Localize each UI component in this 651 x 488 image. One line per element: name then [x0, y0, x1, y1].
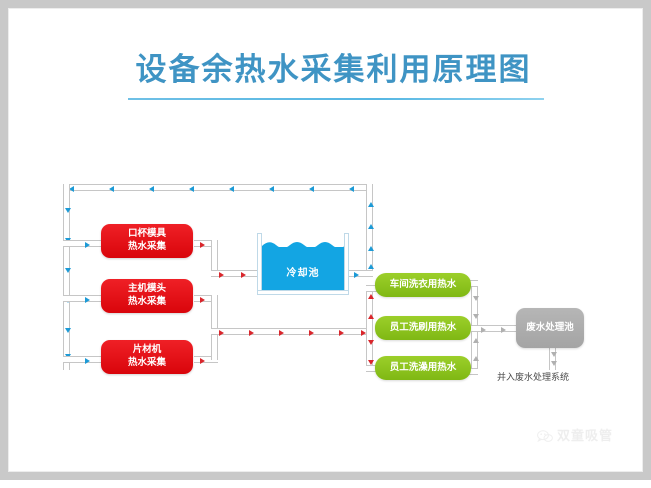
- node-source-2-line2: 热水采集: [128, 296, 166, 309]
- watermark: 双童吸管: [537, 425, 613, 444]
- pipe-return-branch-1: [63, 240, 105, 247]
- pool-wall-bottom: [257, 290, 349, 295]
- pipe-return-top: [63, 184, 373, 191]
- node-source-3-line1: 片材机: [133, 344, 162, 357]
- node-waste-tank[interactable]: 废水处理池: [516, 308, 584, 348]
- node-source-3[interactable]: 片材机 热水采集: [101, 340, 193, 374]
- node-use-2[interactable]: 员工洗刷用热水: [375, 316, 471, 340]
- pool-label: 冷却池: [257, 264, 349, 279]
- node-source-3-line2: 热水采集: [128, 357, 166, 370]
- node-use-3-label: 员工洗澡用热水: [390, 362, 457, 375]
- diagram-canvas: 口杯模具 热水采集 主机模头 热水采集 片材机 热水采集 冷却池: [8, 8, 651, 488]
- pool-water-surface: [262, 239, 344, 249]
- pipe-return-left-trunk: [63, 184, 70, 370]
- wechat-icon: [537, 428, 553, 441]
- pipe-hot-riser-upper: [211, 240, 218, 274]
- node-source-2-line1: 主机模头: [128, 283, 166, 296]
- pipe-hot-collector-lower: [211, 328, 373, 335]
- node-waste-tank-label: 废水处理池: [526, 322, 574, 335]
- waste-caption: 并入废水处理系统: [497, 370, 569, 383]
- diagram-page: 设备余热水采集利用原理图: [0, 0, 651, 480]
- pipe-waste-discharge: [549, 348, 556, 370]
- node-source-2[interactable]: 主机模头 热水采集: [101, 279, 193, 313]
- node-source-1[interactable]: 口杯模具 热水采集: [101, 224, 193, 258]
- node-use-2-label: 员工洗刷用热水: [390, 322, 457, 335]
- pipe-return-branch-2: [63, 295, 105, 302]
- node-source-1-line2: 热水采集: [128, 241, 166, 254]
- pipe-return-branch-3: [63, 356, 105, 363]
- node-cooling-pool[interactable]: 冷却池: [257, 233, 349, 295]
- node-use-1[interactable]: 车间洗衣用热水: [375, 273, 471, 297]
- node-use-1-label: 车间洗衣用热水: [390, 279, 457, 292]
- node-source-1-line1: 口杯模具: [128, 228, 166, 241]
- watermark-text: 双童吸管: [557, 425, 613, 444]
- node-use-3[interactable]: 员工洗澡用热水: [375, 356, 471, 380]
- pipe-hot-distributor: [366, 286, 373, 372]
- pipe-return-riser: [366, 184, 373, 276]
